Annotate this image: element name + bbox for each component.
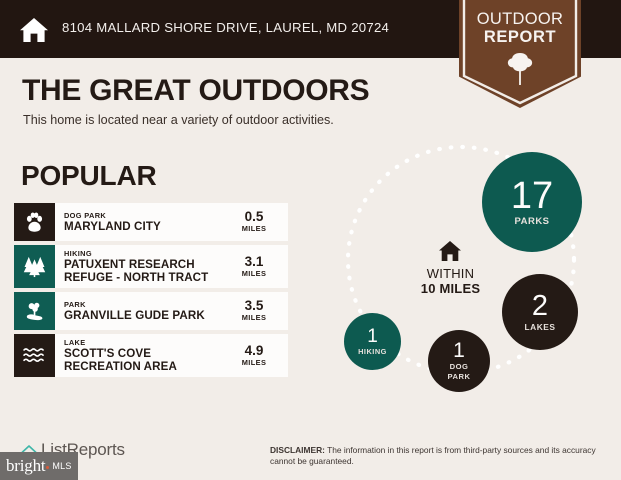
stat-count: 1 — [453, 340, 465, 361]
stat-bubble-hiking[interactable]: 1 HIKING — [344, 313, 401, 370]
stat-bubble-dog-park[interactable]: 1 DOG PARK — [428, 330, 490, 392]
center-caption-line1: WITHIN — [398, 266, 503, 281]
stat-label: LAKES — [525, 322, 556, 332]
poi-distance-value: 3.1 — [245, 255, 264, 269]
poi-icon-tile — [14, 203, 55, 241]
poi-icon-tile — [14, 334, 55, 377]
poi-text: HIKING PATUXENT RESEARCH REFUGE - NORTH … — [55, 245, 228, 288]
poi-name: MARYLAND CITY — [64, 221, 224, 234]
list-item[interactable]: PARK GRANVILLE GUDE PARK 3.5 MILES — [14, 292, 288, 330]
poi-distance-value: 0.5 — [245, 210, 264, 224]
poi-distance: 0.5 MILES — [228, 203, 288, 241]
poi-distance-unit: MILES — [242, 313, 267, 323]
stat-count: 17 — [511, 177, 553, 215]
home-icon — [18, 14, 50, 46]
poi-icon-tile — [14, 292, 55, 330]
water-waves-icon — [22, 346, 47, 365]
stat-label-line2: PARK — [448, 372, 471, 382]
popular-heading: POPULAR — [21, 160, 157, 192]
stat-label: HIKING — [358, 347, 387, 357]
badge-title: OUTDOOR REPORT — [459, 10, 581, 46]
poi-distance: 3.1 MILES — [228, 245, 288, 288]
watermark-bright-text: bright — [6, 456, 45, 476]
outdoor-report-page: 8104 MALLARD SHORE DRIVE, LAUREL, MD 207… — [0, 0, 621, 480]
stat-label: PARKS — [514, 217, 549, 227]
property-address: 8104 MALLARD SHORE DRIVE, LAUREL, MD 207… — [62, 20, 389, 35]
stat-bubble-parks[interactable]: 17 PARKS — [482, 152, 582, 252]
poi-name: SCOTT'S COVE RECREATION AREA — [64, 348, 224, 373]
pine-trees-icon — [22, 255, 47, 278]
poi-name: PATUXENT RESEARCH REFUGE - NORTH TRACT — [64, 259, 224, 284]
popular-list: DOG PARK MARYLAND CITY 0.5 MILES — [14, 203, 288, 381]
list-item[interactable]: HIKING PATUXENT RESEARCH REFUGE - NORTH … — [14, 245, 288, 288]
paw-print-icon — [23, 211, 46, 234]
watermark-mls-text: MLS — [52, 461, 71, 471]
poi-text: PARK GRANVILLE GUDE PARK — [55, 292, 228, 330]
poi-distance-value: 3.5 — [245, 299, 264, 313]
stat-count: 1 — [367, 327, 378, 346]
poi-distance-unit: MILES — [242, 224, 267, 234]
poi-text: DOG PARK MARYLAND CITY — [55, 203, 228, 241]
watermark-dot-icon — [46, 466, 49, 469]
list-item[interactable]: DOG PARK MARYLAND CITY 0.5 MILES — [14, 203, 288, 241]
page-subtitle: This home is located near a variety of o… — [23, 113, 334, 127]
stat-count: 2 — [532, 292, 548, 321]
home-icon — [438, 240, 462, 263]
center-caption: WITHIN 10 MILES — [398, 266, 503, 296]
poi-name: GRANVILLE GUDE PARK — [64, 310, 224, 323]
poi-distance-value: 4.9 — [245, 344, 264, 358]
poi-distance-unit: MILES — [242, 358, 267, 368]
center-caption-line2: 10 MILES — [398, 281, 503, 296]
poi-text: LAKE SCOTT'S COVE RECREATION AREA — [55, 334, 228, 377]
stat-bubble-lakes[interactable]: 2 LAKES — [502, 274, 578, 350]
outdoor-report-badge: OUTDOOR REPORT — [459, 0, 581, 108]
poi-distance-unit: MILES — [242, 269, 267, 279]
page-title: THE GREAT OUTDOORS — [22, 74, 369, 108]
poi-icon-tile — [14, 245, 55, 288]
within-10-miles-diagram: 17 PARKS 2 LAKES 1 DOG PARK 1 HIKING WIT… — [318, 138, 608, 418]
tree-icon — [507, 52, 533, 86]
bright-mls-watermark: bright MLS — [0, 452, 78, 480]
disclaimer-label: DISCLAIMER: — [270, 445, 325, 455]
badge-title-line2: REPORT — [459, 28, 581, 46]
badge-title-line1: OUTDOOR — [459, 10, 581, 28]
stat-label-line1: DOG — [450, 362, 469, 372]
poi-distance: 4.9 MILES — [228, 334, 288, 377]
park-tree-path-icon — [23, 300, 46, 323]
list-item[interactable]: LAKE SCOTT'S COVE RECREATION AREA 4.9 MI… — [14, 334, 288, 377]
disclaimer: DISCLAIMER: The information in this repo… — [270, 445, 605, 467]
poi-distance: 3.5 MILES — [228, 292, 288, 330]
